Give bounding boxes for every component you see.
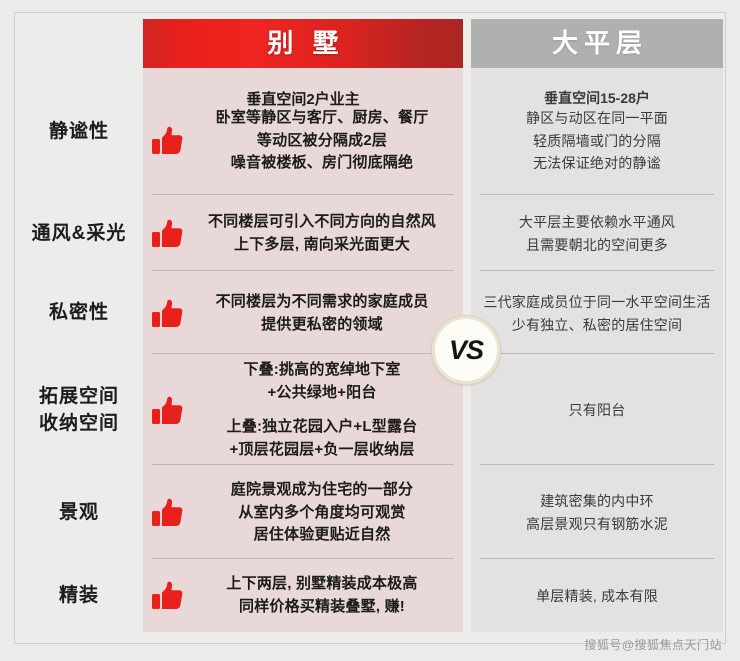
flat-text: 只有阳台 (471, 399, 723, 422)
villa-text-block: 卧室等静区与客厅、厨房、餐厅等动区被分隔成2层噪音被楼板、房门彻底隔绝 (187, 107, 457, 175)
flat-text: 单层精装, 成本有限 (471, 585, 723, 608)
thumbs-up-icon (151, 297, 185, 331)
villa-cell: 不同楼层为不同需求的家庭成员提供更私密的领域 (143, 272, 463, 355)
row-divider-villa (152, 464, 454, 465)
row-divider-flat (480, 464, 714, 465)
villa-cell: 上下两层, 别墅精装成本极高同样价格买精装叠墅, 赚! (143, 560, 463, 632)
row-label-cell: 景观 (16, 466, 142, 560)
flat-row-title: 垂直空间15-28户 (471, 88, 723, 108)
row-divider-villa (152, 194, 454, 195)
thumbs-up-icon (151, 217, 185, 251)
row-label-cell: 私密性 (16, 272, 142, 355)
row-label-cell: 静谧性 (16, 68, 142, 196)
row-label-cell: 拓展空间收纳空间 (16, 355, 142, 466)
row-label: 景观 (59, 500, 99, 526)
villa-cell-inner: 下叠:挑高的宽绰地下室+公共绿地+阳台上叠:独立花园入户+L型露台+顶层花园层+… (143, 359, 463, 461)
villa-text: 下叠:挑高的宽绰地下室+公共绿地+阳台上叠:独立花园入户+L型露台+顶层花园层+… (187, 359, 457, 461)
table-row: 景观庭院景观成为住宅的一部分从室内多个角度均可观赏居住体验更贴近自然建筑密集的内… (0, 466, 740, 560)
villa-text: 不同楼层可引入不同方向的自然风上下多层, 南向采光面更大 (187, 211, 457, 257)
header-flat: 大平层 (471, 19, 723, 68)
villa-cell-inner: 上下两层, 别墅精装成本极高同样价格买精装叠墅, 赚! (143, 573, 463, 619)
thumbs-up-icon (151, 394, 185, 428)
comparison-table: 别 墅 大平层 静谧性卧室等静区与客厅、厨房、餐厅等动区被分隔成2层噪音被楼板、… (0, 0, 740, 661)
flat-text: 静区与动区在同一平面轻质隔墙或门的分隔无法保证绝对的静谧 (471, 107, 723, 175)
row-divider-villa (152, 558, 454, 559)
villa-text: 庭院景观成为住宅的一部分从室内多个角度均可观赏居住体验更贴近自然 (187, 479, 457, 547)
flat-text: 三代家庭成员位于同一水平空间生活少有独立、私密的居住空间 (471, 291, 723, 336)
villa-cell-inner: 不同楼层为不同需求的家庭成员提供更私密的领域 (143, 291, 463, 337)
villa-cell-inner: 卧室等静区与客厅、厨房、餐厅等动区被分隔成2层噪音被楼板、房门彻底隔绝 (143, 107, 463, 175)
row-label: 私密性 (49, 300, 109, 326)
row-label: 拓展空间收纳空间 (39, 384, 119, 436)
villa-cell: 不同楼层可引入不同方向的自然风上下多层, 南向采光面更大 (143, 196, 463, 272)
row-label: 精装 (59, 583, 99, 609)
villa-text: 不同楼层为不同需求的家庭成员提供更私密的领域 (187, 291, 457, 337)
villa-text-block: 不同楼层可引入不同方向的自然风上下多层, 南向采光面更大 (187, 211, 457, 257)
row-divider-flat (480, 270, 714, 271)
villa-cell-inner: 庭院景观成为住宅的一部分从室内多个角度均可观赏居住体验更贴近自然 (143, 479, 463, 547)
row-label-cell: 精装 (16, 560, 142, 632)
table-row: 精装上下两层, 别墅精装成本极高同样价格买精装叠墅, 赚!单层精装, 成本有限 (0, 560, 740, 632)
table-row: 拓展空间收纳空间下叠:挑高的宽绰地下室+公共绿地+阳台上叠:独立花园入户+L型露… (0, 355, 740, 466)
villa-text-block: 不同楼层为不同需求的家庭成员提供更私密的领域 (187, 291, 457, 337)
row-divider-flat (480, 558, 714, 559)
row-divider-flat (480, 194, 714, 195)
watermark: 搜狐号@搜狐焦点天门站 (584, 636, 722, 653)
thumbs-up-icon (151, 579, 185, 613)
vs-badge: VS (432, 316, 500, 384)
row-divider-villa (152, 270, 454, 271)
villa-text-block: 下叠:挑高的宽绰地下室+公共绿地+阳台 (187, 359, 457, 405)
table-row: 通风&采光不同楼层可引入不同方向的自然风上下多层, 南向采光面更大大平层主要依赖… (0, 196, 740, 272)
villa-text: 上下两层, 别墅精装成本极高同样价格买精装叠墅, 赚! (187, 573, 457, 619)
row-label: 静谧性 (49, 119, 109, 145)
row-label: 通风&采光 (32, 221, 127, 247)
table-row: 私密性不同楼层为不同需求的家庭成员提供更私密的领域三代家庭成员位于同一水平空间生… (0, 272, 740, 355)
flat-cell: 单层精装, 成本有限 (471, 560, 723, 632)
villa-text-block: 上下两层, 别墅精装成本极高同样价格买精装叠墅, 赚! (187, 573, 457, 619)
villa-text-block: 庭院景观成为住宅的一部分从室内多个角度均可观赏居住体验更贴近自然 (187, 479, 457, 547)
villa-cell: 庭院景观成为住宅的一部分从室内多个角度均可观赏居住体验更贴近自然 (143, 466, 463, 560)
flat-cell: 只有阳台 (471, 355, 723, 466)
flat-text: 建筑密集的内中环高层景观只有钢筋水泥 (471, 490, 723, 535)
row-divider-flat (480, 353, 714, 354)
thumbs-up-icon (151, 496, 185, 530)
header-villa: 别 墅 (143, 19, 463, 68)
villa-text-block: 上叠:独立花园入户+L型露台+顶层花园层+负一层收纳层 (187, 416, 457, 462)
villa-row-title: 垂直空间2户业主 (143, 88, 463, 109)
flat-text: 大平层主要依赖水平通风且需要朝北的空间更多 (471, 211, 723, 256)
villa-cell: 下叠:挑高的宽绰地下室+公共绿地+阳台上叠:独立花园入户+L型露台+顶层花园层+… (143, 355, 463, 466)
villa-text: 卧室等静区与客厅、厨房、餐厅等动区被分隔成2层噪音被楼板、房门彻底隔绝 (187, 107, 457, 175)
flat-cell: 三代家庭成员位于同一水平空间生活少有独立、私密的居住空间 (471, 272, 723, 355)
thumbs-up-icon (151, 124, 185, 158)
flat-cell: 建筑密集的内中环高层景观只有钢筋水泥 (471, 466, 723, 560)
row-label-cell: 通风&采光 (16, 196, 142, 272)
villa-cell-inner: 不同楼层可引入不同方向的自然风上下多层, 南向采光面更大 (143, 211, 463, 257)
row-divider-villa (152, 353, 454, 354)
flat-cell: 大平层主要依赖水平通风且需要朝北的空间更多 (471, 196, 723, 272)
